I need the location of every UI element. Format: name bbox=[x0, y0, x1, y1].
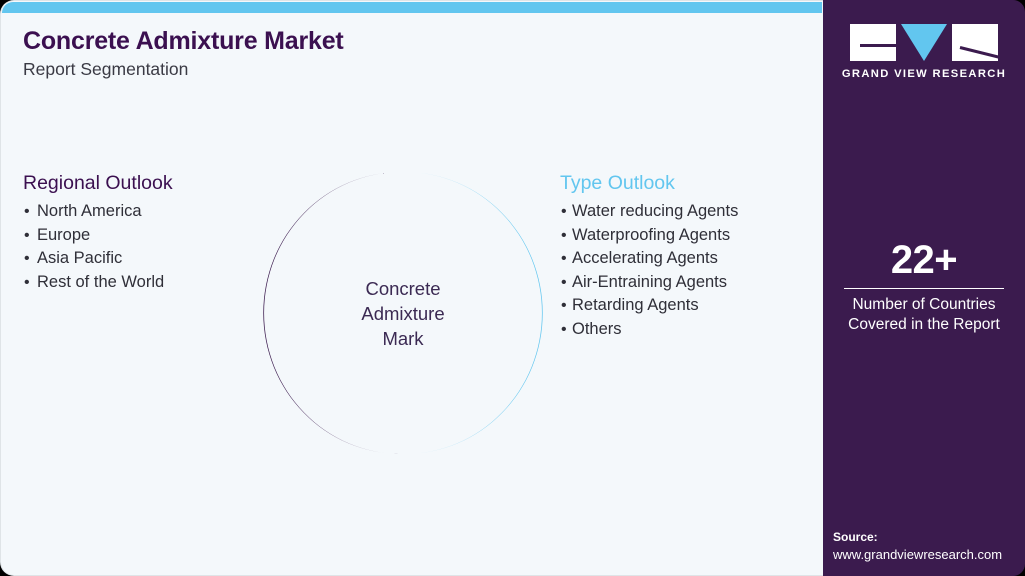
stat-label-line-1: Number of Countries bbox=[823, 295, 1025, 315]
brand-side-panel: GRAND VIEW RESEARCH 22+ Number of Countr… bbox=[823, 0, 1025, 576]
list-item: Accelerating Agents bbox=[560, 247, 738, 271]
country-count-stat: 22+ Number of Countries Covered in the R… bbox=[823, 238, 1025, 335]
logo-marks bbox=[823, 24, 1025, 61]
logo-r-icon bbox=[952, 24, 998, 61]
logo-v-triangle-icon bbox=[901, 24, 947, 61]
source-block: Source: www.grandviewresearch.com bbox=[833, 529, 1025, 564]
type-outlook-section: Type Outlook Water reducing Agents Water… bbox=[560, 172, 738, 341]
regional-outlook-section: Regional Outlook North America Europe As… bbox=[23, 172, 173, 294]
type-outlook-list: Water reducing Agents Waterproofing Agen… bbox=[560, 200, 738, 341]
logo-wordmark: GRAND VIEW RESEARCH bbox=[823, 68, 1025, 80]
list-item: Water reducing Agents bbox=[560, 200, 738, 224]
donut-chart-svg bbox=[262, 168, 544, 458]
list-item: Retarding Agents bbox=[560, 294, 738, 318]
list-item: Europe bbox=[23, 224, 173, 248]
donut-slice-regional bbox=[263, 172, 401, 454]
list-item: Rest of the World bbox=[23, 271, 173, 295]
page-subtitle: Report Segmentation bbox=[23, 59, 188, 80]
source-url[interactable]: www.grandviewresearch.com bbox=[833, 546, 1025, 564]
source-label: Source: bbox=[833, 529, 1025, 546]
stat-divider bbox=[844, 288, 1004, 289]
top-accent-bar bbox=[2, 2, 822, 13]
list-item: Others bbox=[560, 318, 738, 342]
regional-outlook-heading: Regional Outlook bbox=[23, 172, 173, 195]
list-item: North America bbox=[23, 200, 173, 224]
stat-value: 22+ bbox=[823, 238, 1025, 282]
donut-slice-type bbox=[405, 172, 543, 454]
type-outlook-heading: Type Outlook bbox=[560, 172, 738, 195]
regional-outlook-list: North America Europe Asia Pacific Rest o… bbox=[23, 200, 173, 294]
list-item: Waterproofing Agents bbox=[560, 224, 738, 248]
logo-g-icon bbox=[850, 24, 896, 61]
main-content-panel: Concrete Admixture Market Report Segment… bbox=[0, 0, 823, 576]
donut-chart: Concrete Admixture Mark bbox=[262, 168, 544, 458]
stat-label-line-2: Covered in the Report bbox=[823, 315, 1025, 335]
grand-view-research-logo: GRAND VIEW RESEARCH bbox=[823, 24, 1025, 80]
page-title: Concrete Admixture Market bbox=[23, 27, 344, 56]
infographic-canvas: Concrete Admixture Market Report Segment… bbox=[0, 0, 1025, 576]
list-item: Air-Entraining Agents bbox=[560, 271, 738, 295]
list-item: Asia Pacific bbox=[23, 247, 173, 271]
